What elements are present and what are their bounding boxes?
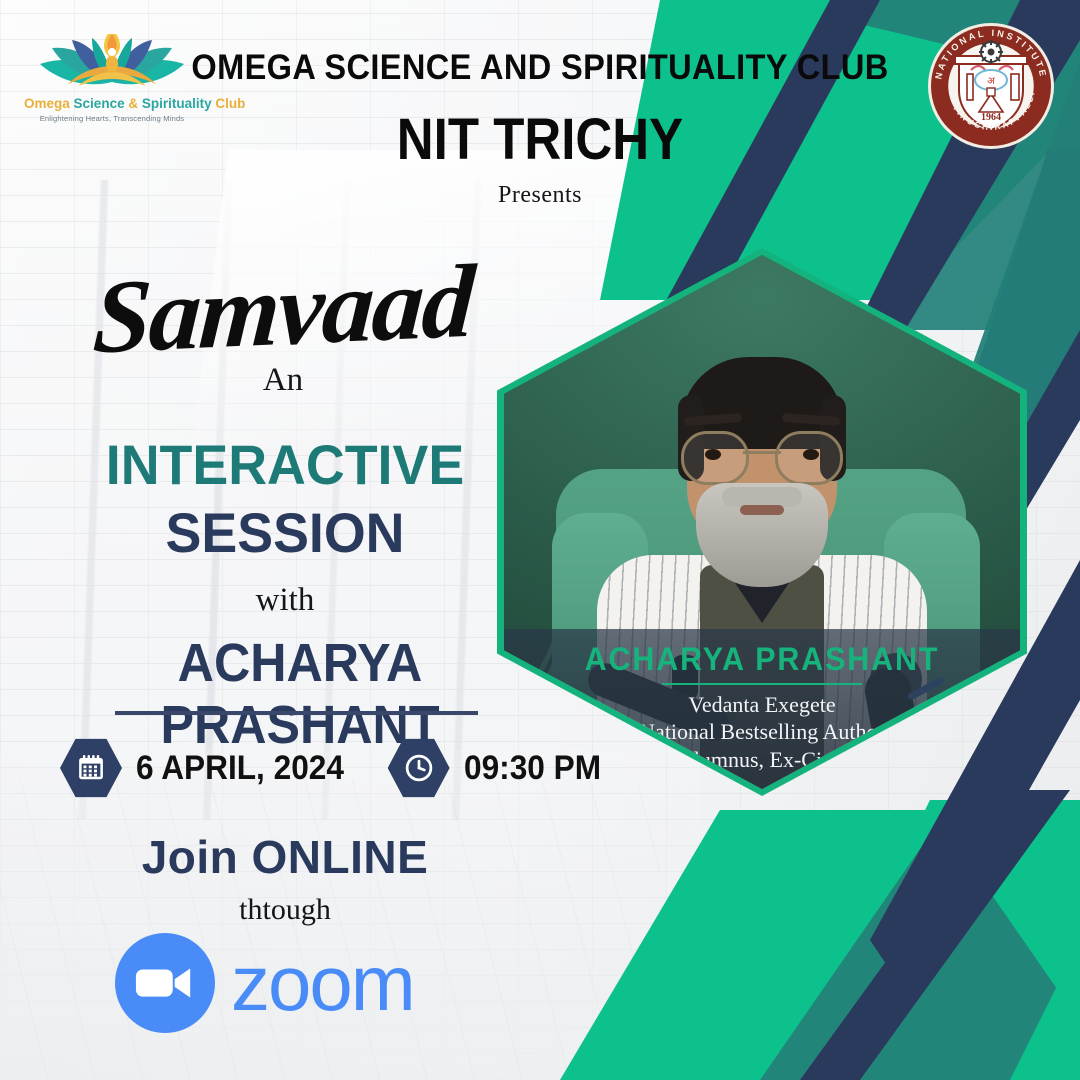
speaker-mouth	[740, 505, 784, 515]
divider-rule	[115, 711, 478, 715]
omega-word-omega: Omega	[24, 96, 70, 111]
caption-underline	[662, 683, 862, 685]
club-title: OMEGA SCIENCE AND SPIRITUALITY CLUB	[38, 48, 1042, 88]
presents-label: Presents	[0, 182, 1080, 209]
calendar-icon	[60, 737, 122, 799]
through-label: thtough	[40, 893, 530, 927]
speaker-glasses	[679, 431, 845, 481]
video-camera-icon	[115, 933, 215, 1033]
event-details-row: 6 APRIL, 2024 09:30 PM	[60, 735, 560, 801]
speaker-moustache	[722, 487, 802, 507]
session-heading: SESSION	[50, 500, 520, 565]
clock-glyph	[404, 753, 434, 783]
video-camera-glyph	[134, 963, 196, 1003]
clock-icon	[388, 737, 450, 799]
zoom-logo[interactable]: zoom	[115, 930, 455, 1035]
an-label: An	[48, 362, 518, 399]
speaker-eye-right	[803, 449, 819, 460]
event-poster: Omega Science & Spirituality Club Enligh…	[0, 0, 1080, 1080]
glasses-bridge	[743, 451, 781, 454]
event-date: 6 APRIL, 2024	[136, 749, 344, 788]
calendar-glyph	[76, 753, 106, 783]
interactive-heading: INTERACTIVE	[50, 432, 520, 497]
join-online-headline: Join ONLINE	[40, 830, 530, 884]
zoom-wordmark: zoom	[231, 944, 414, 1022]
event-name: Samvaad	[45, 248, 521, 373]
caption-speaker-name: ACHARYA PRASHANT	[526, 641, 997, 678]
event-time: 09:30 PM	[464, 749, 601, 788]
speaker-eye-left	[705, 449, 721, 460]
with-label: with	[40, 582, 530, 619]
institute-title: NIT TRICHY	[65, 106, 1015, 173]
